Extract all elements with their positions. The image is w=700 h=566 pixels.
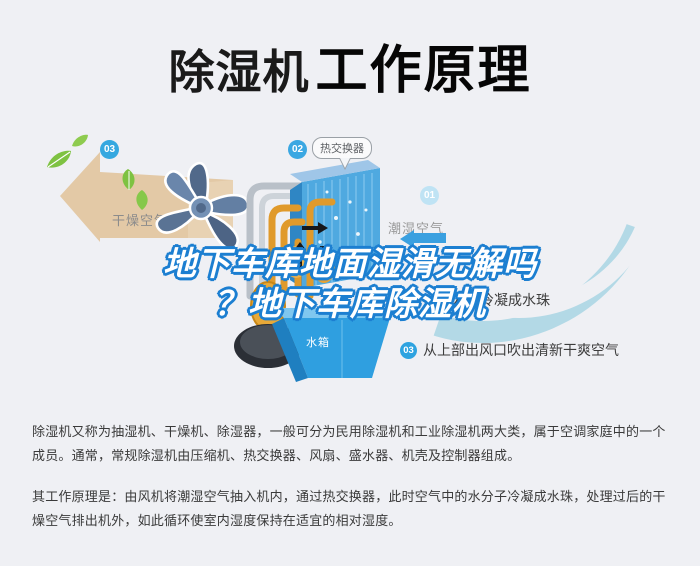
heat-exchanger-label: 热交换器 <box>320 143 364 155</box>
article-paragraph-2: 其工作原理是：由风机将潮湿空气抽入机内，通过热交换器，此时空气中的水分子冷凝成水… <box>32 485 672 533</box>
leaf-icon <box>71 134 89 148</box>
legend-03-text: 从上部出风口吹出清新干爽空气 <box>423 340 619 360</box>
leaf-icon <box>46 150 72 170</box>
legend-03-badge: 03 <box>400 342 417 359</box>
callout-tail-icon <box>339 158 351 170</box>
heat-exchanger-callout: 热交换器 <box>312 137 372 159</box>
article-paragraph-1: 除湿机又称为抽湿机、干燥机、除湿器，一般可分为民用除湿机和工业除湿机两大类，属于… <box>32 420 672 468</box>
page-title: 除湿机工作原理 <box>0 28 700 103</box>
badge-03-dry-air: 03 <box>100 140 119 159</box>
wet-air-arrow-icon <box>400 230 446 248</box>
leaf-icon <box>120 169 137 191</box>
badge-01-wet-air: 01 <box>420 186 439 205</box>
infographic-page: 除湿机工作原理 干燥空气 03 <box>0 0 700 566</box>
legend-item-03: 03 从上部出风口吹出清新干爽空气 <box>400 340 619 360</box>
water-tank-label: 水箱 <box>306 334 330 350</box>
title-part-1: 除湿机 <box>168 45 309 99</box>
legend-02-text: 发器冷凝成水珠 <box>452 290 550 310</box>
badge-02-heat-exchanger: 02 <box>288 140 307 159</box>
article-body: 除湿机又称为抽湿机、干燥机、除湿器，一般可分为民用除湿机和工业除湿机两大类，属于… <box>32 420 672 533</box>
dehumidifier-diagram: 干燥空气 03 <box>0 118 700 398</box>
legend-item-02: 发器冷凝成水珠 <box>452 290 550 310</box>
title-part-2: 工作原理 <box>315 41 531 101</box>
